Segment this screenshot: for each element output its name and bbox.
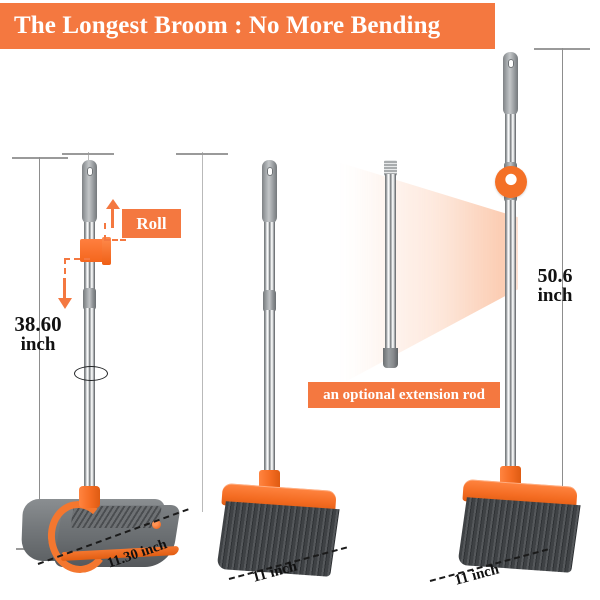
panel-divider-2-cap <box>176 153 228 155</box>
broom1-pole-lower <box>264 310 275 476</box>
broom1-pole-upper <box>264 222 275 292</box>
arrow-up-shaft <box>111 206 114 228</box>
extension-rod-callout-label: an optional extension rod <box>323 387 485 404</box>
roll-connector-down <box>64 258 90 284</box>
roll-callout-label: Roll <box>136 214 166 234</box>
pole-ring-detail <box>74 366 108 381</box>
arrow-down-icon <box>58 298 72 309</box>
roll-slider-clip[interactable] <box>86 237 120 265</box>
roll-connector-up <box>104 223 126 241</box>
ring-clip-icon[interactable] <box>495 166 527 198</box>
broom2-pole-upper <box>505 114 516 166</box>
arrow-down-shaft <box>63 278 66 300</box>
panel-divider-2 <box>202 152 203 512</box>
arrow-up-icon <box>106 199 120 209</box>
broom2-width-label: 11 inch <box>453 562 501 590</box>
dustpan-pole-lower <box>84 308 95 494</box>
left-height-value: 38.60 <box>14 312 61 336</box>
right-height-unit: inch <box>524 286 586 305</box>
extension-rod-foot <box>383 348 398 368</box>
extension-rod-shaft <box>385 174 396 352</box>
roll-callout: Roll <box>122 209 181 238</box>
right-height-value: 50.6 <box>538 265 573 287</box>
extension-rod-callout: an optional extension rod <box>308 382 500 408</box>
broom2-pole-lower <box>505 200 516 472</box>
left-height-label: 38.60 inch <box>2 314 74 355</box>
broom2-hang-hole-icon <box>508 59 514 68</box>
left-height-unit: inch <box>2 335 74 354</box>
right-height-label: 50.6 inch <box>524 266 586 306</box>
broom2-bristles <box>457 497 580 572</box>
title-banner: The Longest Broom : No More Bending <box>0 3 495 49</box>
left-dimension-cap-top <box>12 157 68 159</box>
broom1-pole-collar <box>263 290 276 312</box>
page-title: The Longest Broom : No More Bending <box>14 12 440 40</box>
product-infographic: The Longest Broom : No More Bending 38.6… <box>0 0 600 600</box>
dustpan-pole-joint <box>79 486 100 508</box>
hang-hole-icon <box>87 167 93 176</box>
panel-divider-1-cap <box>62 153 114 155</box>
slider-clip-wing <box>102 237 111 265</box>
broom1-hang-hole-icon <box>267 167 273 176</box>
dustpan-pole-collar <box>83 288 96 310</box>
extension-glow-cone <box>330 150 518 390</box>
